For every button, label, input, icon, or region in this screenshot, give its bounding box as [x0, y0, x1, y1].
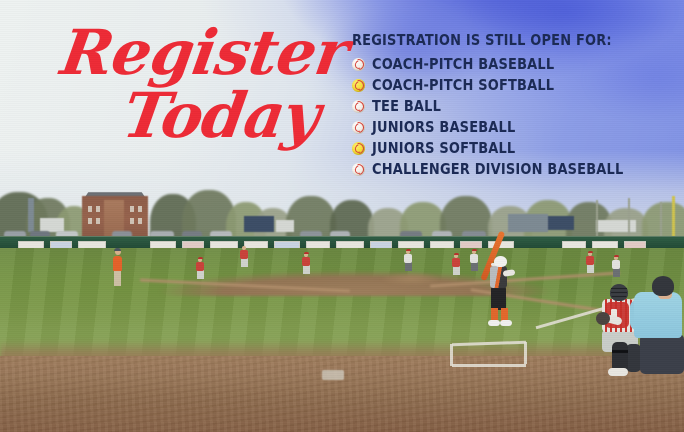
fielder: [404, 250, 413, 272]
poster-canvas: Register Today REGISTRATION IS STILL OPE…: [0, 0, 684, 432]
fielder: [302, 253, 311, 275]
batting-helmet: [494, 256, 507, 267]
home-plate: [322, 370, 344, 380]
fielder: [586, 252, 595, 274]
program-label: COACH-PITCH SOFTBALL: [372, 76, 554, 94]
list-item: TEE BALL: [352, 96, 682, 117]
catchers-mitt: [596, 312, 610, 325]
fielder: [196, 258, 205, 280]
umpire: [634, 278, 684, 388]
callout-heading: REGISTRATION IS STILL OPEN FOR:: [352, 32, 659, 50]
dirt-texture: [0, 356, 684, 432]
coach-orange: [113, 248, 125, 288]
light-pole: [28, 198, 34, 232]
batter: [486, 256, 526, 332]
program-list: COACH-PITCH BASEBALL COACH-PITCH SOFTBAL…: [352, 54, 682, 180]
baseball-icon: [352, 121, 365, 134]
list-item: JUNIORS SOFTBALL: [352, 138, 682, 159]
list-item: JUNIORS BASEBALL: [352, 117, 682, 138]
program-label: COACH-PITCH BASEBALL: [372, 55, 554, 73]
baseball-icon: [352, 58, 365, 71]
chalk-line: [524, 342, 527, 364]
program-label: JUNIORS SOFTBALL: [372, 139, 515, 157]
fielder: [240, 246, 248, 264]
fielder: [470, 250, 479, 272]
softball-icon: [352, 79, 365, 92]
program-label: CHALLENGER DIVISION BASEBALL: [372, 160, 623, 178]
fielder: [612, 256, 621, 278]
baseball-icon: [352, 163, 365, 176]
fielder: [452, 254, 461, 276]
list-item: COACH-PITCH BASEBALL: [352, 54, 682, 75]
chalk-line: [450, 344, 453, 366]
baseball-icon: [352, 100, 365, 113]
program-label: JUNIORS BASEBALL: [372, 118, 515, 136]
registration-callout: REGISTRATION IS STILL OPEN FOR: COACH-PI…: [352, 32, 682, 180]
program-label: TEE BALL: [372, 97, 441, 115]
list-item: COACH-PITCH SOFTBALL: [352, 75, 682, 96]
chalk-line: [452, 364, 526, 367]
list-item: CHALLENGER DIVISION BASEBALL: [352, 159, 682, 180]
softball-icon: [352, 142, 365, 155]
umpire-mask: [652, 276, 674, 296]
